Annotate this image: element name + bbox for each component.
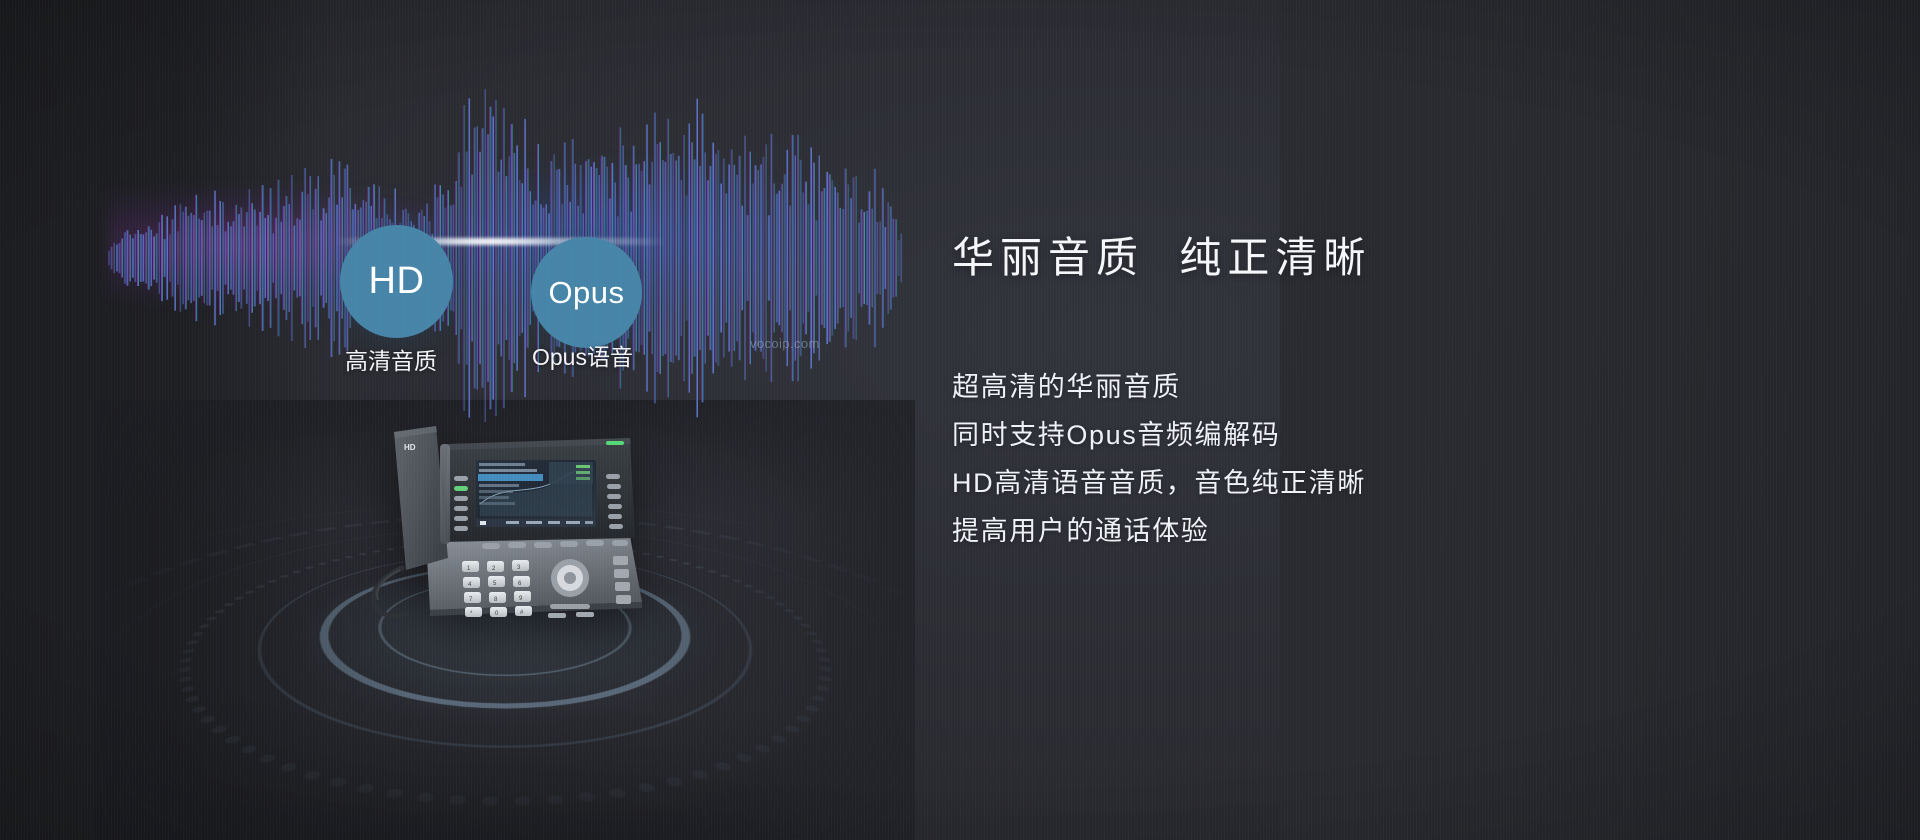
audio-waveform xyxy=(108,82,903,422)
product-banner: HD Opus 高清音质 Opus语音 vocoip.com xyxy=(0,0,1920,840)
list-item: 同时支持Opus音频编解码 xyxy=(952,411,1812,459)
badge-hd-caption: 高清音质 xyxy=(345,342,437,376)
badge-opus-label: Opus xyxy=(548,275,624,311)
badge-opus-caption: Opus语音 xyxy=(532,338,633,372)
headline: 华丽音质 纯正清晰 xyxy=(952,232,1812,285)
list-item: 超高清的华丽音质 xyxy=(952,363,1812,411)
list-item: HD高清语音音质，音色纯正清晰 xyxy=(952,459,1812,507)
badge-hd[interactable]: HD xyxy=(340,225,453,338)
svg-text:HD: HD xyxy=(404,443,416,452)
copy-column: 华丽音质 纯正清晰 超高清的华丽音质 同时支持Opus音频编解码 HD高清语音音… xyxy=(952,232,1812,556)
badge-hd-label: HD xyxy=(369,260,425,303)
badge-opus[interactable]: Opus xyxy=(531,237,642,348)
list-item: 提高用户的通话体验 xyxy=(952,507,1812,555)
feature-list: 超高清的华丽音质 同时支持Opus音频编解码 HD高清语音音质，音色纯正清晰 提… xyxy=(952,363,1812,556)
watermark-text: vocoip.com xyxy=(750,336,820,351)
grandstream-ip-phone-image: 123 456 789 *0# xyxy=(330,388,650,618)
